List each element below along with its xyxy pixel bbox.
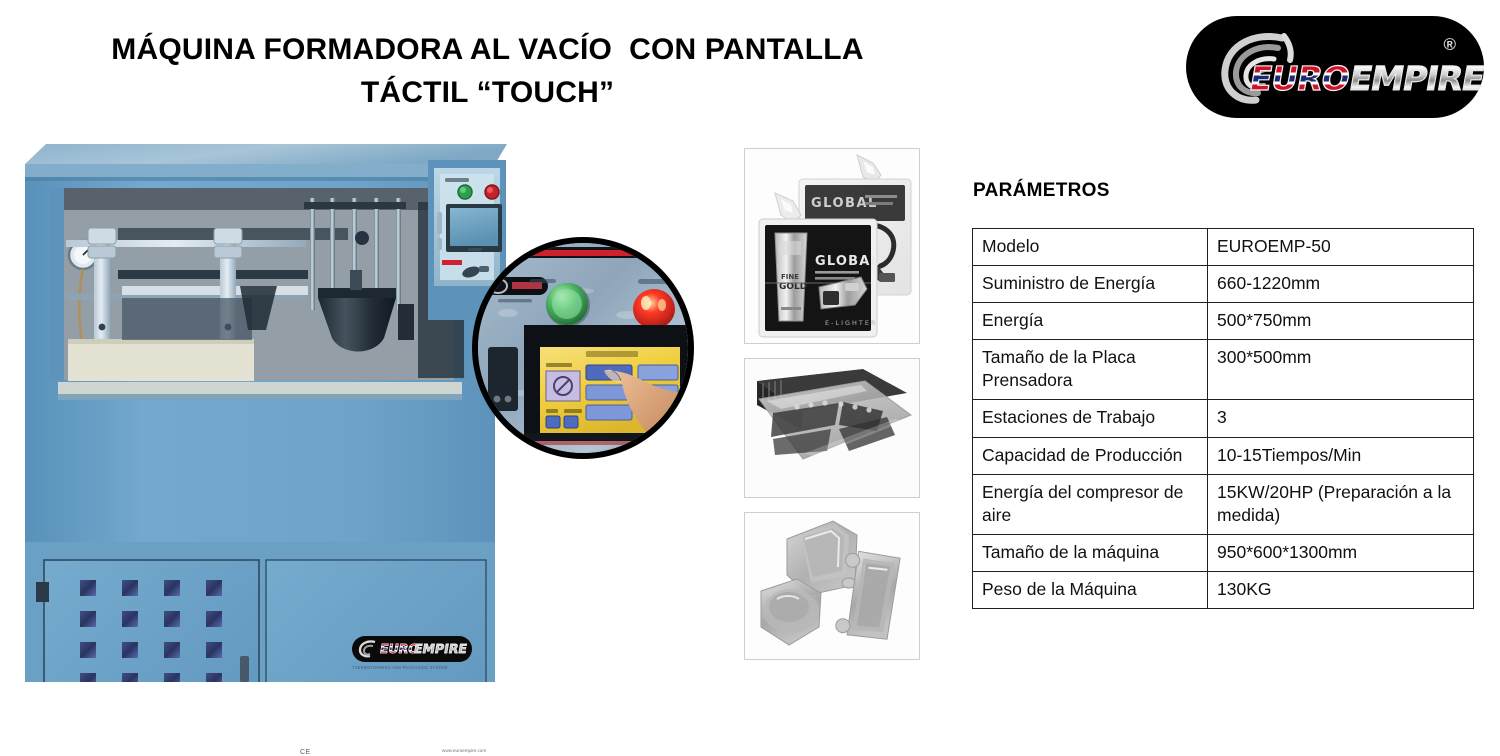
cabinet-badge-tagline: THERMOFORMING AND PACKAGING SYSTEM [352,665,492,670]
table-row: Estaciones de Trabajo 3 [973,400,1474,437]
svg-text:GLOBAL: GLOBAL [815,254,880,269]
param-label: Energía del compresor de aire [973,474,1208,534]
callout-red-lamp [633,289,675,329]
parameters-table: Modelo EUROEMP-50 Suministro de Energía … [972,228,1474,609]
param-value: 10-15Tiempos/Min [1208,437,1474,474]
euroempire-logo: ® EURO EMPIRE [1186,16,1484,118]
param-label: Modelo [973,229,1208,266]
callout-side-module [488,347,518,411]
param-label: Energía [973,303,1208,340]
cabinet-website-text: www.euroempire.com [442,748,486,753]
table-row: Tamaño de la máquina 950*600*1300mm [973,534,1474,571]
param-value: 3 [1208,400,1474,437]
parameters-heading: PARÁMETROS [973,180,1110,202]
cabinet-logo-badge: EURO EMPIRE THERMOFORMING AND PACKAGING … [352,636,492,669]
param-value: 500*750mm [1208,303,1474,340]
table-row: Suministro de Energía 660-1220mm [973,266,1474,303]
table-row: Modelo EUROEMP-50 [973,229,1474,266]
param-value: 130KG [1208,571,1474,608]
param-label: Tamaño de la máquina [973,534,1208,571]
logo-wordmark: EURO EMPIRE [1246,58,1484,98]
param-value: 950*600*1300mm [1208,534,1474,571]
page-title-line-2: TÁCTIL “TOUCH” [0,71,975,114]
table-row: Tamaño de la Placa Prensadora 300*500mm [973,340,1474,400]
machine-photo: EURO EMPIRE THERMOFORMING AND PACKAGING … [22,142,507,682]
param-label: Estaciones de Trabajo [973,400,1208,437]
table-row: Peso de la Máquina 130KG [973,571,1474,608]
cabinet-ce-mark: CE [300,749,311,756]
product-photo-3 [744,512,920,660]
table-row: Energía del compresor de aire 15KW/20HP … [973,474,1474,534]
registered-trademark-mark: ® [1443,36,1456,53]
param-value: EUROEMP-50 [1208,229,1474,266]
svg-text:FINE: FINE [781,273,799,281]
table-row: Capacidad de Producción 10-15Tiempos/Min [973,437,1474,474]
page-title-line-1: MÁQUINA FORMADORA AL VACÍO CON PANTALLA [0,28,975,71]
logo-wordmark-euro: EURO [1247,59,1354,98]
logo-wordmark-empire: EMPIRE [1346,59,1484,98]
param-value: 660-1220mm [1208,266,1474,303]
param-value: 15KW/20HP (Preparación a la medida) [1208,474,1474,534]
svg-text:E-LIGHTER: E-LIGHTER [825,319,878,327]
param-value: 300*500mm [1208,340,1474,400]
param-label: Tamaño de la Placa Prensadora [973,340,1208,400]
page-title: MÁQUINA FORMADORA AL VACÍO CON PANTALLA … [0,28,975,114]
product-photo-1: GLOBAL FINE GOLD GLOBAL [744,148,920,344]
param-label: Peso de la Máquina [973,571,1208,608]
callout-red-stripe [494,250,674,256]
cabinet-badge-empire: EMPIRE [413,641,469,656]
product-photo-2 [744,358,920,498]
param-label: Capacidad de Producción [973,437,1208,474]
touchscreen-detail-callout [473,238,693,458]
table-row: Energía 500*750mm [973,303,1474,340]
param-label: Suministro de Energía [973,266,1208,303]
